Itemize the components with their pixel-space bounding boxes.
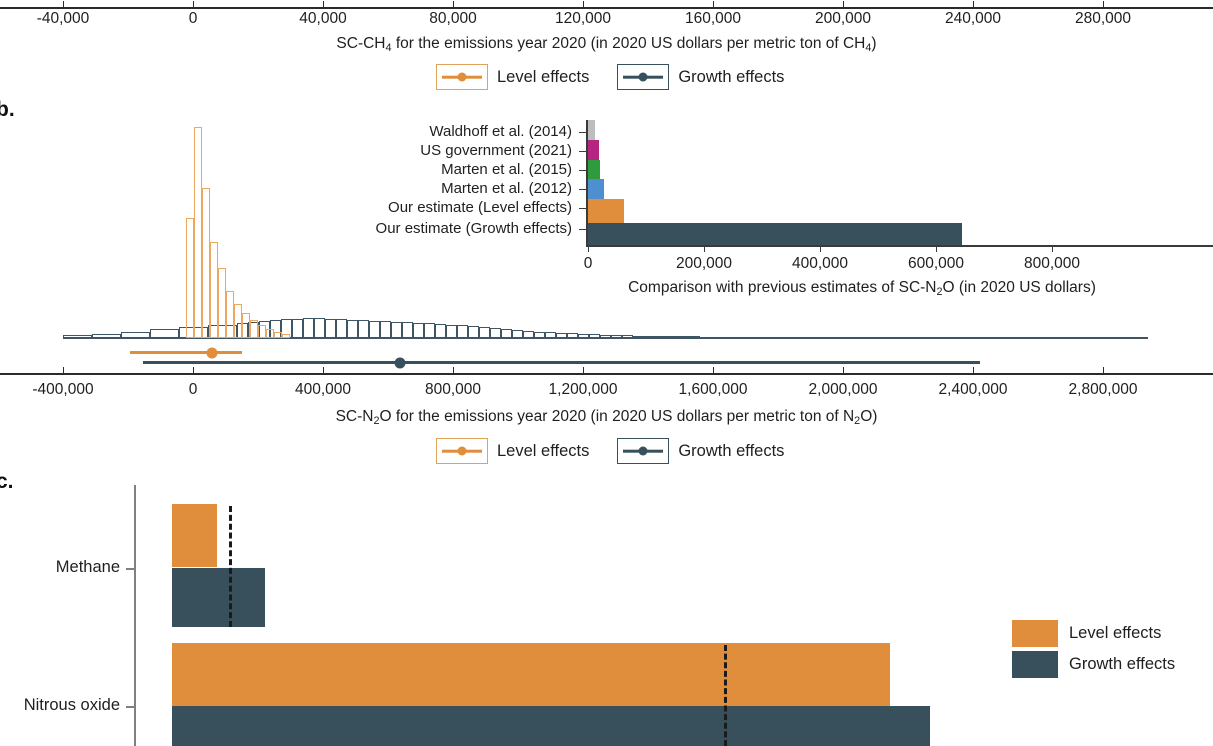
inset-x-tick <box>704 245 705 252</box>
panel-a-tick-label: -40,000 <box>3 10 123 28</box>
panel-b-axis-title-post: O) <box>860 408 877 425</box>
panel-a-axis-title-post: ) <box>871 35 876 52</box>
panel-b-tick-label: 2,400,000 <box>913 381 1033 399</box>
inset-row-label: US government (2021) <box>322 142 572 159</box>
panel-c-bar-nitrous-oxide-growth <box>172 706 930 746</box>
panel-b-legend-label: Level effects <box>497 442 589 461</box>
panel-b-axis-title-sub2: 2 <box>854 415 860 427</box>
inset-row-label: Our estimate (Growth effects) <box>322 220 572 237</box>
inset-x-axis <box>586 245 1213 247</box>
inset-y-tick <box>579 132 586 133</box>
level-effects-marker-icon <box>436 64 488 90</box>
panel-a-tick-label: 240,000 <box>913 10 1033 28</box>
panel-b-tick-label: 400,000 <box>263 381 383 399</box>
panel-a-legend-item-growth[interactable]: Growth effects <box>617 64 784 90</box>
inset-bar-waldhoff <box>588 120 595 140</box>
panel-b-axis-title-pre: SC-N <box>336 408 374 425</box>
figure-root: -40,000 0 40,000 80,000 120,000 160,000 … <box>0 0 1213 746</box>
panel-a-axis-title-sub1: 4 <box>386 42 392 54</box>
panel-a-legend: Level effects Growth effects <box>436 64 784 90</box>
inset-x-tick <box>936 245 937 252</box>
inset-y-tick <box>579 170 586 171</box>
inset-x-tick-label: 0 <box>528 255 648 273</box>
panel-a-axis-title-pre: SC-CH <box>336 35 385 52</box>
panel-b-tick-label: 2,000,000 <box>783 381 903 399</box>
panel-b-tick-label: 0 <box>133 381 253 399</box>
growth-effects-marker-icon <box>617 64 669 90</box>
panel-a-tick-label: 80,000 <box>393 10 513 28</box>
panel-c-reference-line-nitrous-oxide <box>724 645 727 746</box>
panel-a-legend-label: Growth effects <box>678 68 784 87</box>
inset-y-tick <box>579 151 586 152</box>
panel-b-legend: Level effects Growth effects <box>436 438 784 464</box>
panel-c-legend-label: Level effects <box>1069 624 1161 643</box>
inset-x-tick-label: 600,000 <box>876 255 996 273</box>
inset-y-tick <box>579 208 586 209</box>
inset-x-tick <box>588 245 589 252</box>
inset-y-tick <box>579 189 586 190</box>
panel-c-bar-nitrous-oxide-level <box>172 643 890 706</box>
inset-row-label: Our estimate (Level effects) <box>322 199 572 216</box>
panel-a-axis-line <box>0 7 1213 9</box>
panel-b-legend-item-growth[interactable]: Growth effects <box>617 438 784 464</box>
inset-row-label: Marten et al. (2012) <box>322 180 572 197</box>
panel-c-category-label-nitrous-oxide: Nitrous oxide <box>0 696 120 715</box>
growth-effects-marker-icon <box>617 438 669 464</box>
panel-b-growth-interval-line <box>143 361 980 364</box>
panel-b-axis-title: SC-N2O for the emissions year 2020 (in 2… <box>0 408 1213 426</box>
inset-bar-marten-2012 <box>588 179 604 199</box>
panel-c-reference-line-methane <box>229 506 232 627</box>
inset-x-tick <box>1052 245 1053 252</box>
panel-c-category-label-methane: Methane <box>0 558 120 577</box>
inset-bar-marten-2015 <box>588 160 600 179</box>
panel-c-y-tick <box>126 706 135 708</box>
inset-x-tick-label: 800,000 <box>992 255 1112 273</box>
panel-c-bar-methane-level <box>172 504 217 567</box>
growth-effects-swatch-icon <box>1012 651 1058 678</box>
panel-b-axis-line <box>0 373 1213 375</box>
inset-axis-title-sub: 2 <box>937 286 943 298</box>
inset-axis-title-post: O (in 2020 US dollars) <box>943 279 1096 296</box>
level-effects-marker-icon <box>436 438 488 464</box>
panel-b-tick-label: 2,800,000 <box>1043 381 1163 399</box>
inset-row-label: Marten et al. (2015) <box>322 161 572 178</box>
level-effects-swatch-icon <box>1012 620 1058 647</box>
panel-a-axis-title: SC-CH4 for the emissions year 2020 (in 2… <box>0 35 1213 53</box>
inset-x-tick-label: 400,000 <box>760 255 880 273</box>
panel-a-axis-title-mid: for the emissions year 2020 (in 2020 US … <box>392 35 866 52</box>
panel-b-tick-label: -400,000 <box>3 381 123 399</box>
panel-b-axis-title-sub1: 2 <box>373 415 379 427</box>
panel-b-tick-label: 1,200,000 <box>523 381 643 399</box>
inset-axis-title-pre: Comparison with previous estimates of SC… <box>628 279 936 296</box>
panel-b-tick-label: 800,000 <box>393 381 513 399</box>
panel-a-tick-label: 200,000 <box>783 10 903 28</box>
panel-a-tick-label: 40,000 <box>263 10 383 28</box>
panel-c-y-tick <box>126 568 135 570</box>
panel-a-tick-label: 280,000 <box>1043 10 1163 28</box>
panel-b-tick-label: 1,600,000 <box>653 381 773 399</box>
panel-c-legend-item-growth[interactable]: Growth effects <box>1012 651 1175 678</box>
panel-c-legend-item-level[interactable]: Level effects <box>1012 620 1175 647</box>
panel-b-legend-item-level[interactable]: Level effects <box>436 438 589 464</box>
panel-b-legend-label: Growth effects <box>678 442 784 461</box>
panel-b-letter: b. <box>0 98 15 122</box>
panel-b-level-interval-point <box>207 347 218 358</box>
inset-y-tick <box>579 229 586 230</box>
panel-a-legend-item-level[interactable]: Level effects <box>436 64 589 90</box>
panel-c-bar-methane-growth <box>172 568 265 627</box>
panel-b-level-interval-line <box>130 351 242 354</box>
inset-x-tick <box>820 245 821 252</box>
panel-a-legend-label: Level effects <box>497 68 589 87</box>
inset-axis-title: Comparison with previous estimates of SC… <box>552 279 1172 297</box>
inset-bar-us-government <box>588 140 599 160</box>
panel-b-axis-title-mid: O for the emissions year 2020 (in 2020 U… <box>379 408 854 425</box>
panel-b-growth-interval-point <box>395 357 406 368</box>
inset-x-tick-label: 200,000 <box>644 255 764 273</box>
panel-a-tick-label: 160,000 <box>653 10 773 28</box>
panel-a-axis-title-sub2: 4 <box>865 42 871 54</box>
panel-c-legend-label: Growth effects <box>1069 655 1175 674</box>
panel-c-legend: Level effects Growth effects <box>1012 620 1175 678</box>
inset-row-label: Waldhoff et al. (2014) <box>322 123 572 140</box>
inset-bar-our-estimate-growth <box>588 223 962 245</box>
panel-a-tick-label: 120,000 <box>523 10 643 28</box>
inset-chart: Waldhoff et al. (2014) US government (20… <box>552 112 1213 300</box>
inset-bar-our-estimate-level <box>588 199 624 223</box>
panel-a-tick-label: 0 <box>133 10 253 28</box>
panel-c-letter: c. <box>0 470 14 494</box>
